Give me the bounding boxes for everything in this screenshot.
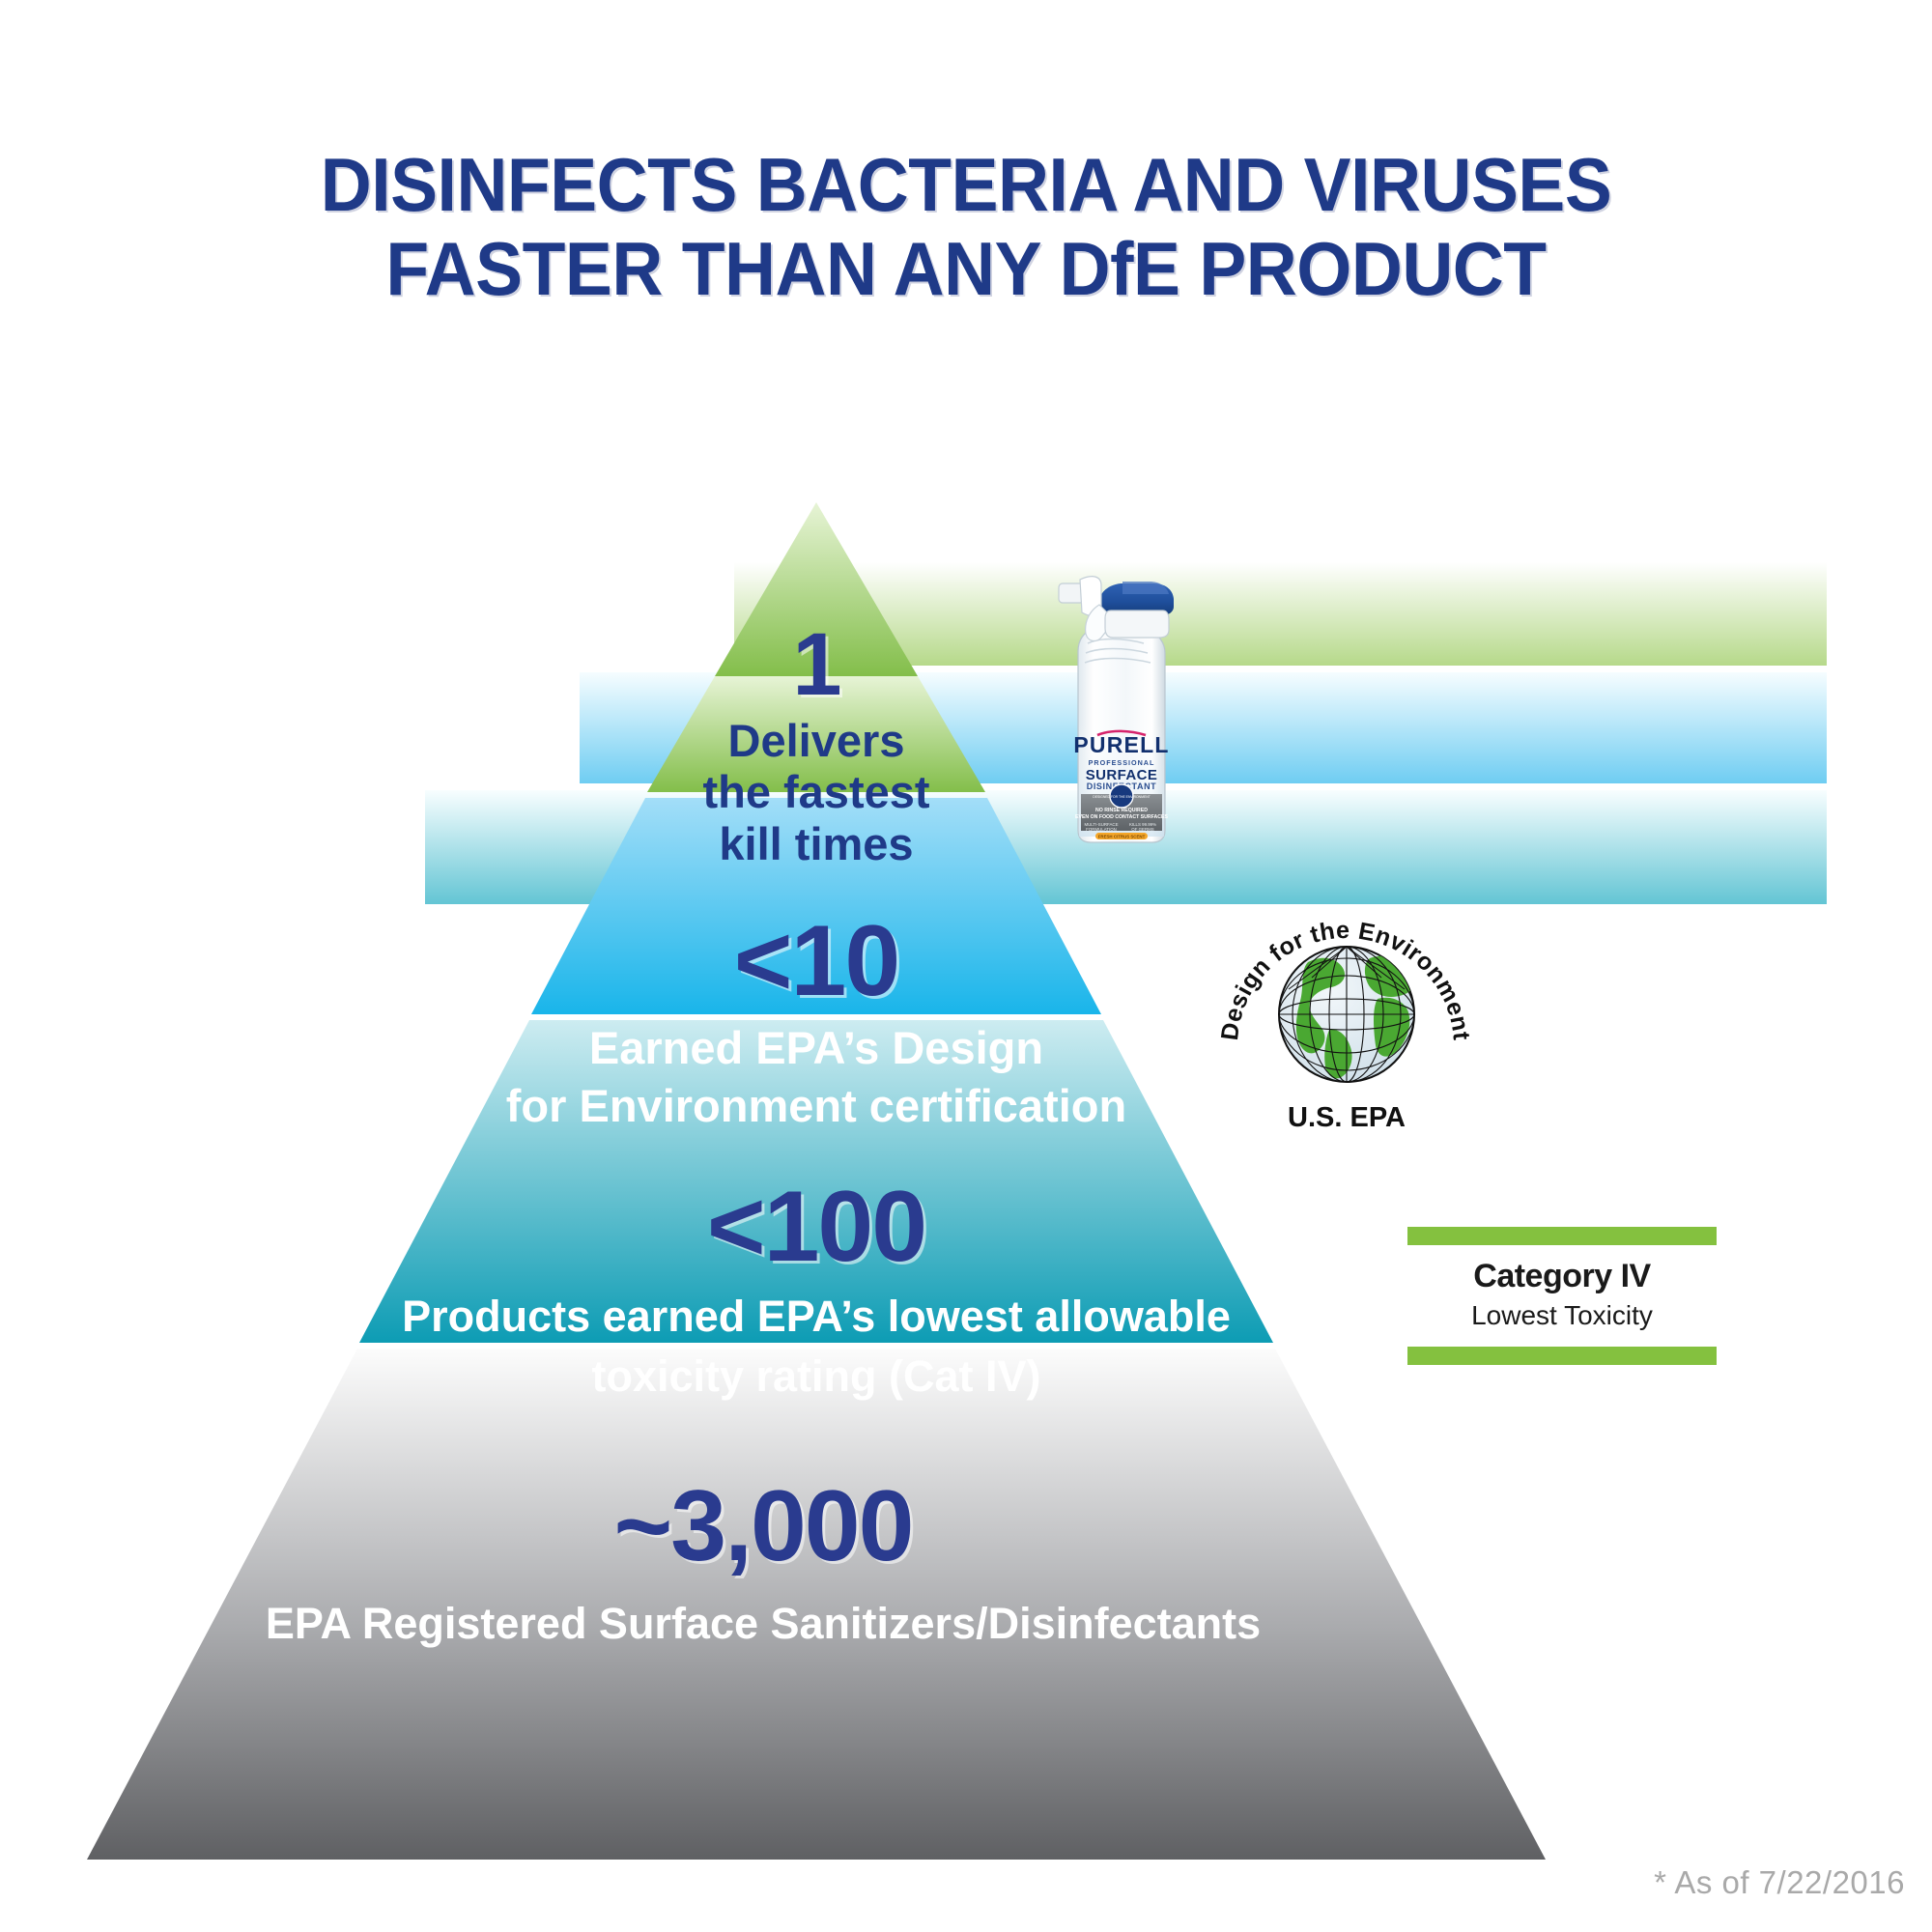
tier-1-number: 1: [526, 618, 1106, 713]
label-seal-text: DESIGNED FOR THE ENVIRONMENT: [1093, 795, 1150, 799]
tier-3-text-block: <100 Products earned EPA’s lowest allowa…: [237, 1174, 1396, 1400]
pyramid-infographic: 1 Delivers the fastest kill times <10 Ea…: [0, 0, 1932, 1932]
purell-spray-bottle-image: PURELL PROFESSIONAL SURFACE DISINFECTANT…: [1041, 551, 1202, 845]
label-claim-2: EVEN ON FOOD CONTACT SURFACES: [1075, 814, 1168, 820]
card-top-bar: [1407, 1227, 1717, 1245]
tier-4-number: ~3,000: [87, 1473, 1439, 1579]
tier-2-line-1: Earned EPA’s Design: [333, 1024, 1299, 1072]
tier-4-line-1: EPA Registered Surface Sanitizers/Disinf…: [87, 1601, 1439, 1647]
footnote: * As of 7/22/2016: [1654, 1864, 1905, 1901]
tier-4-text-block: ~3,000 EPA Registered Surface Sanitizers…: [87, 1473, 1439, 1647]
label-claim-3b: FORMULATION: [1086, 827, 1117, 832]
tier-2-number: <10: [333, 908, 1299, 1014]
trigger-sprayer: [1059, 577, 1174, 641]
tier-3-number: <100: [237, 1174, 1396, 1280]
label-brand: PURELL: [1073, 732, 1169, 757]
card-bottom-bar: [1407, 1347, 1717, 1365]
sprayer-collar: [1105, 611, 1169, 638]
card-body: Category IV Lowest Toxicity: [1407, 1245, 1717, 1347]
card-subheading: Lowest Toxicity: [1413, 1300, 1711, 1331]
tier-1-line-2: the fastest: [526, 768, 1106, 816]
tier-1-line-1: Delivers: [526, 717, 1106, 765]
tier-1-text-block: 1 Delivers the fastest kill times: [526, 618, 1106, 868]
tier-3-line-2: toxicity rating (Cat IV): [237, 1353, 1396, 1400]
card-heading: Category IV: [1413, 1258, 1711, 1295]
label-claim-1: NO RINSE REQUIRED: [1095, 808, 1148, 813]
dfe-logo: Design for the Environment: [1215, 906, 1476, 1136]
label-professional: PROFESSIONAL: [1089, 758, 1155, 767]
label-claim-4b: OF GERMS: [1131, 827, 1153, 832]
tier-3-line-1: Products earned EPA’s lowest allowable: [237, 1293, 1396, 1340]
dfe-bottom-text: U.S. EPA: [1288, 1102, 1406, 1133]
label-scent-text: FRESH CITRUS SCENT: [1098, 834, 1146, 838]
tier-2-text-block: <10 Earned EPA’s Design for Environment …: [333, 908, 1299, 1130]
tier-1-line-3: kill times: [526, 820, 1106, 868]
category-iv-card: Category IV Lowest Toxicity: [1407, 1227, 1717, 1365]
tier-2-line-2: for Environment certification: [333, 1082, 1299, 1130]
